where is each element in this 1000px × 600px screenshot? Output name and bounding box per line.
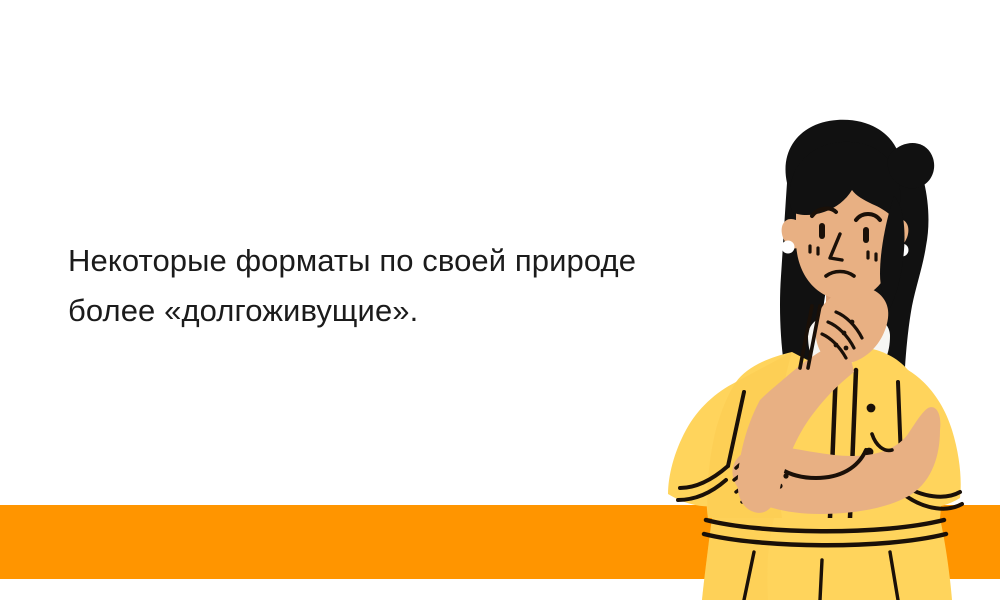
page-title: Некоторые форматы по своей природе более… <box>68 236 668 336</box>
slide-canvas: Некоторые форматы по своей природе более… <box>0 0 1000 600</box>
thinking-woman-illustration <box>640 100 1000 600</box>
